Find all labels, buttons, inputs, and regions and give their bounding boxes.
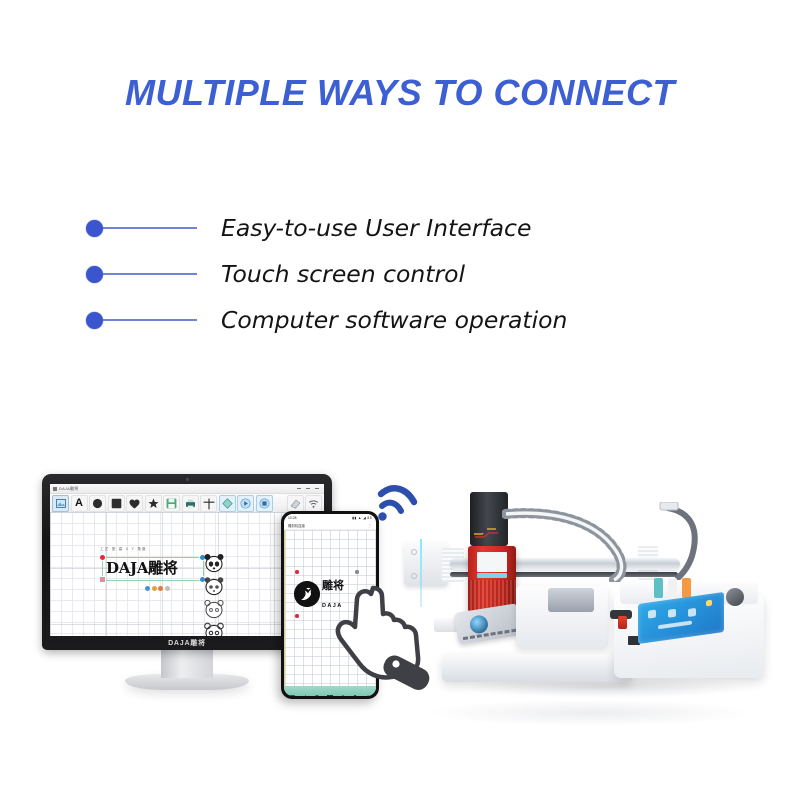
start-tool-button[interactable] [237,495,254,512]
teal-chip-icon [654,578,663,598]
svg-text:A: A [302,695,307,696]
rotate-handle-icon[interactable] [355,570,359,574]
machine-base [442,654,632,682]
feature-label: Computer software operation [221,306,567,334]
minimize-icon[interactable] [297,488,301,489]
motor-wiring [472,524,506,542]
ground-reflection [430,700,750,726]
star-tool-button[interactable] [145,495,162,512]
screen-icon-1[interactable] [648,610,656,619]
cable-chain [502,504,652,582]
stop-tool-button[interactable] [256,495,273,512]
phone-app-bar: 雕刻机连接 ⋮ [284,521,376,530]
bullet-dot-icon [86,312,103,329]
square-tool-button[interactable] [108,495,125,512]
save-icon [166,498,177,509]
monitor-neck [161,650,213,678]
console-chips [654,578,691,598]
panda-icon[interactable] [202,621,226,636]
eraser-icon [290,498,301,509]
image-tool-icon[interactable] [289,688,295,694]
module-chip [477,573,507,578]
fill-swatch-icon[interactable] [152,586,157,591]
text-icon: A [75,498,83,509]
save-tool-button[interactable] [163,495,180,512]
heart-icon [129,499,140,509]
list-item: Touch screen control [86,251,726,297]
lock-handle-icon[interactable] [99,576,106,583]
star-icon [148,498,159,509]
text-tool-button[interactable]: A [71,495,88,512]
center-tool-button[interactable] [200,495,217,512]
print-tool-button[interactable] [182,495,199,512]
screen-progress-bar [658,620,692,629]
wifi-tool-button[interactable] [305,495,322,512]
window-controls[interactable] [297,488,321,489]
gantry-carriage [548,588,594,612]
engraved-metal-tag [454,603,522,645]
phone-status-bar: 10:28 ▮▮ ▲ ◢ 85 [284,514,376,521]
daja-eagle-logo-icon [294,581,320,607]
power-button[interactable] [618,616,627,629]
bullet-line [103,273,197,275]
delete-handle-icon[interactable] [99,554,106,561]
more-options-icon[interactable] [165,586,170,591]
image-icon [56,499,66,508]
white-chip-icon [668,578,677,598]
module-label [477,552,507,572]
bullet-line [103,319,197,321]
eraser-tool-button[interactable] [287,495,304,512]
design-canvas[interactable]: 工艺 宽 高 X Y 角度 DAJA雕将 [50,512,286,636]
tag-engrave-spot [469,614,490,635]
adjust-knob[interactable] [726,588,744,606]
maximize-icon[interactable] [306,488,310,489]
square-icon [111,498,122,509]
webcam-icon [186,478,189,481]
laser-engraver-machine [398,468,798,718]
app-title-bar: DAJA雕将 [50,484,324,494]
heart-tool-button[interactable] [126,495,143,512]
control-console [614,594,764,678]
panda-icon[interactable] [202,598,226,620]
list-item: Computer software operation [86,297,726,343]
wifi-icon [308,499,319,509]
feature-label: Touch screen control [221,260,465,288]
phone-app-title: 雕刻机连接 [288,523,305,528]
stop-icon [259,498,270,509]
poster-stage: MULTIPLE WAYS TO CONNECT Easy-to-use Use… [0,0,800,800]
crosshair-icon [203,498,215,510]
hand-pointer-icon [324,580,450,698]
app-title-label: DAJA雕将 [59,486,78,492]
overflow-menu-icon[interactable]: ⋮ [368,523,372,528]
list-item: Easy-to-use User Interface [86,205,726,251]
bullet-dot-icon [86,266,103,283]
feature-list: Easy-to-use User Interface Touch screen … [86,205,726,343]
shape-tool-icon[interactable] [314,688,320,694]
status-indicators: ▮▮ ▲ ◢ 85 [352,516,372,520]
bullet-line [103,227,197,229]
panda-icon[interactable] [202,575,226,597]
stroke-swatch-icon[interactable] [158,586,163,591]
canvas-artwork-text[interactable]: DAJA雕将 [106,557,178,578]
lock-handle-icon[interactable] [295,614,299,618]
color-swatch-icon[interactable] [145,586,150,591]
circle-icon [92,498,103,509]
tag-engraved-text [463,629,517,640]
screen-icon-3[interactable] [688,608,696,617]
orange-chip-icon [682,578,691,598]
inline-toolbar[interactable] [145,586,170,591]
play-icon [240,498,251,509]
text-tool-icon[interactable]: A [302,688,308,694]
app-logo-icon [53,487,57,491]
canvas-dimension-label: 工艺 宽 高 X Y 角度 [100,547,147,552]
clipart-group[interactable] [202,552,226,636]
cable-tube [656,502,710,580]
circle-tool-button[interactable] [89,495,106,512]
status-time: 10:28 [288,516,297,520]
printer-icon [185,499,196,509]
feature-label: Easy-to-use User Interface [221,214,531,242]
preview-tool-button[interactable] [219,495,236,512]
panda-icon[interactable] [202,552,226,574]
screen-icon-2[interactable] [668,609,676,618]
image-tool-button[interactable] [52,495,69,512]
close-icon[interactable] [315,488,319,489]
delete-handle-icon[interactable] [295,570,299,574]
bullet-dot-icon [86,220,103,237]
app-toolbar[interactable]: A [50,494,324,514]
screen-icon-4[interactable] [706,600,712,607]
page-title: MULTIPLE WAYS TO CONNECT [0,72,800,114]
laser-module [468,546,516,612]
diamond-icon [222,498,233,509]
